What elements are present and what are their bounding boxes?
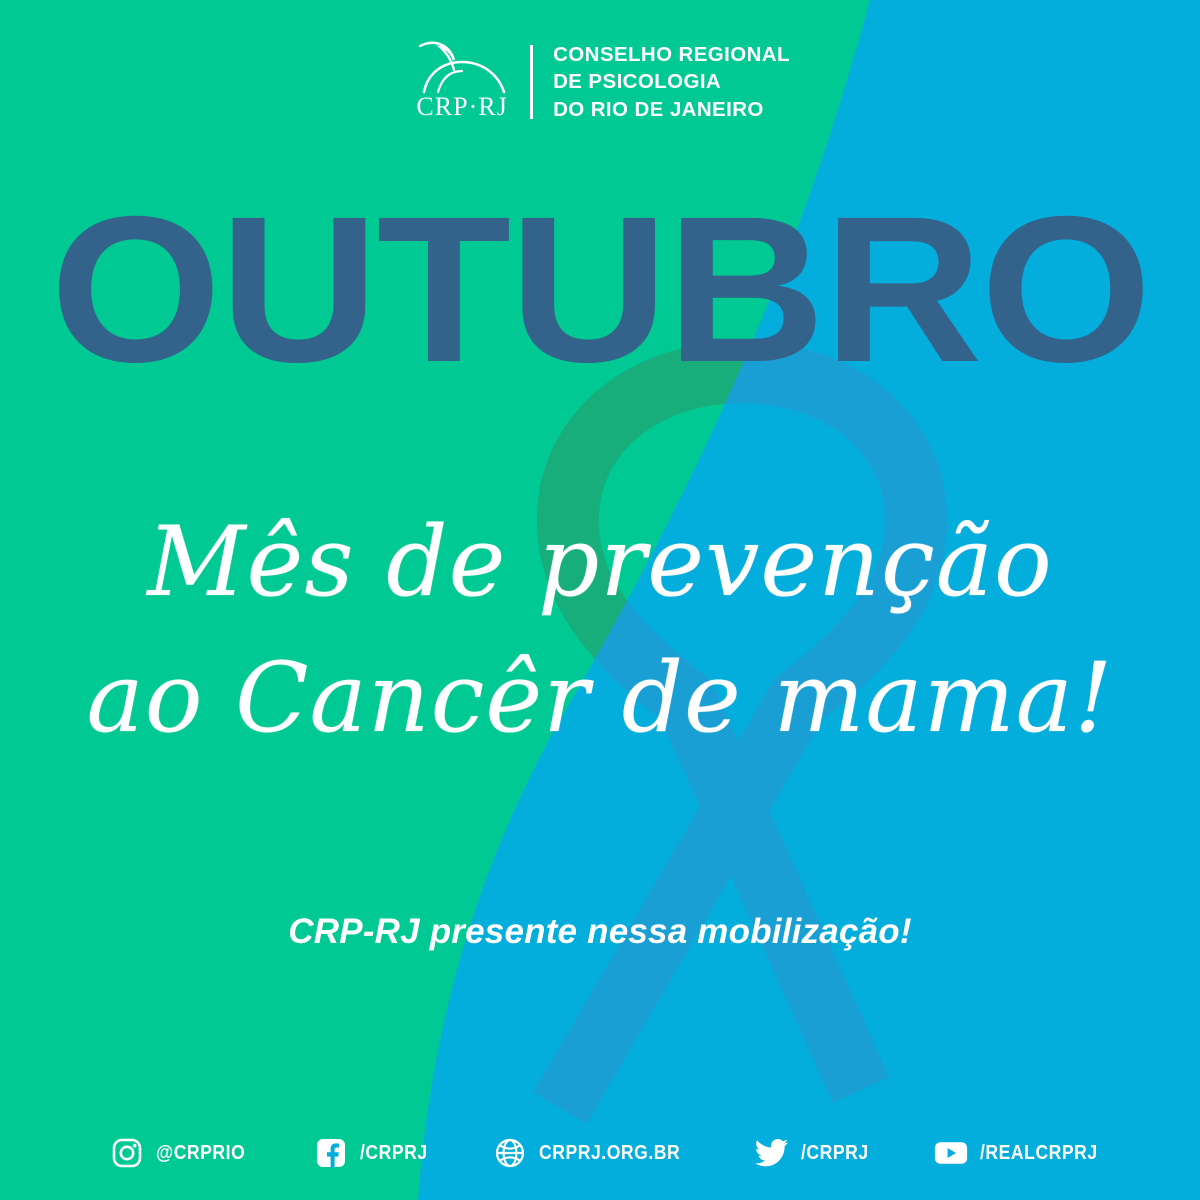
social-bar: @CRPRIO /CRPRJ CRPRJ.ORG. [0,1136,1200,1170]
social-label-website: CRPRJ.ORG.BR [539,1142,680,1165]
globe-icon[interactable] [493,1136,527,1170]
social-item-website[interactable]: CRPRJ.ORG.BR [493,1136,700,1170]
crp-rj-logo: CRP·RJ CONSELHO REGIONAL DE PSICOLOGIA D… [0,40,1200,124]
logo-organization-name: CONSELHO REGIONAL DE PSICOLOGIA DO RIO D… [553,41,790,123]
social-item-twitter[interactable]: /CRPRJ [755,1136,878,1170]
twitter-icon[interactable] [755,1136,789,1170]
youtube-icon[interactable] [934,1136,968,1170]
script-headline-line-1: Mês de prevenção [0,494,1200,630]
crp-rj-bird-mark: CRP·RJ [410,40,514,124]
logo-mark-text: CRP·RJ [416,94,507,120]
logo-line-1: CONSELHO REGIONAL [553,41,790,68]
script-headline: Mês de prevenção ao Cancêr de mama! [0,494,1200,767]
social-label-facebook: /CRPRJ [360,1142,428,1165]
social-item-instagram[interactable]: @CRPRIO [110,1136,258,1170]
logo-divider [530,45,533,119]
facebook-icon[interactable] [314,1136,348,1170]
poster-canvas: CRP·RJ CONSELHO REGIONAL DE PSICOLOGIA D… [0,0,1200,1200]
page-title: OUTUBRO [0,186,1200,394]
script-headline-line-2: ao Cancêr de mama! [0,630,1200,766]
instagram-icon[interactable] [110,1136,144,1170]
social-item-youtube[interactable]: /REALCRPRJ [934,1136,1114,1170]
social-item-facebook[interactable]: /CRPRJ [314,1136,437,1170]
bird-mark-icon [410,40,514,96]
social-label-twitter: /CRPRJ [801,1142,869,1165]
social-label-youtube: /REALCRPRJ [980,1142,1098,1165]
logo-line-2: DE PSICOLOGIA [553,68,790,95]
social-label-instagram: @CRPRIO [156,1142,245,1165]
tagline: CRP-RJ presente nessa mobilização! [0,912,1200,952]
logo-line-3: DO RIO DE JANEIRO [553,96,790,123]
